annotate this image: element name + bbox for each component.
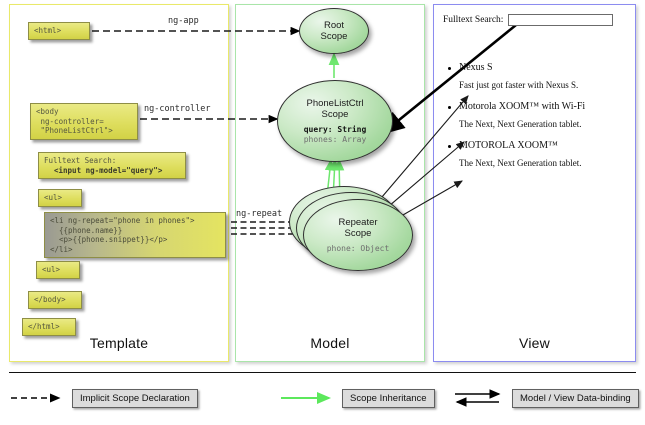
column-label-template: Template	[10, 335, 228, 351]
column-label-view: View	[434, 335, 635, 351]
search-box-label: Fulltext Search:	[44, 156, 116, 165]
diagram-canvas: Template Model View	[0, 0, 645, 425]
legend-item-model-view-data-binding: Model / View Data-binding	[449, 385, 639, 411]
scope-phonelistctrl-props: query: String phones: Array	[304, 125, 367, 145]
code-box-body-open: <body ng-controller= "PhoneListCtrl">	[30, 103, 138, 140]
phone-snippet: The Next, Next Generation tablet.	[443, 158, 629, 168]
edge-label-ng-controller: ng-controller	[144, 104, 211, 114]
code-box-search: Fulltext Search: <input ng-model="query"…	[38, 152, 186, 179]
phone-name: Motorola XOOM™ with Wi-Fi	[443, 101, 629, 112]
view-search-row: Fulltext Search:	[443, 14, 629, 26]
legend-item-implicit-scope-declaration: Implicit Scope Declaration	[9, 385, 198, 411]
column-model: Model	[235, 4, 425, 362]
legend-divider	[9, 372, 636, 373]
scope-root: Root Scope	[299, 8, 369, 54]
fulltext-search-input[interactable]	[508, 14, 613, 26]
scope-phonelistctrl-line1: PhoneListCtrl	[306, 98, 363, 109]
edge-label-ng-app: ng-app	[168, 16, 199, 26]
legend-label-model-view-data-binding: Model / View Data-binding	[512, 389, 639, 408]
search-box-code: <input ng-model="query">	[44, 166, 162, 175]
code-box-ul-close: <ul>	[36, 261, 80, 279]
view-phone-list: Nexus S Fast just got faster with Nexus …	[443, 62, 629, 168]
legend-item-scope-inheritance: Scope Inheritance	[279, 385, 435, 411]
list-item: Nexus S Fast just got faster with Nexus …	[443, 62, 629, 90]
view-search-label: Fulltext Search:	[443, 15, 503, 25]
legend-label-implicit-scope-declaration: Implicit Scope Declaration	[72, 389, 198, 408]
scope-prop-query: query: String	[304, 125, 367, 135]
scope-repeater-props: phone: Object	[327, 244, 390, 254]
list-item: Motorola XOOM™ with Wi-Fi The Next, Next…	[443, 101, 629, 129]
code-box-html-close: </html>	[22, 318, 76, 336]
legend-label-scope-inheritance: Scope Inheritance	[342, 389, 435, 408]
code-box-html-open: <html>	[28, 22, 90, 40]
scope-root-line1: Root	[324, 20, 344, 31]
scope-root-line2: Scope	[321, 31, 348, 42]
code-box-ul-open: <ul>	[38, 189, 82, 207]
scope-phonelistctrl: PhoneListCtrl Scope query: String phones…	[277, 80, 393, 162]
legend: Implicit Scope Declaration Scope Inherit…	[9, 385, 636, 411]
column-label-model: Model	[236, 335, 424, 351]
code-box-li-repeat: <li ng-repeat="phone in phones"> {{phone…	[44, 212, 226, 258]
scope-repeater: Repeater Scope phone: Object	[303, 199, 413, 271]
phone-name: MOTOROLA XOOM™	[443, 140, 629, 151]
phone-snippet: Fast just got faster with Nexus S.	[443, 80, 629, 90]
scope-prop-phone: phone: Object	[327, 244, 390, 254]
scope-repeater-line2: Scope	[345, 228, 372, 239]
scope-phonelistctrl-line2: Scope	[322, 109, 349, 120]
edge-label-ng-repeat: ng-repeat	[236, 209, 282, 219]
code-box-body-close: </body>	[28, 291, 82, 309]
green-arrow-icon	[279, 387, 337, 409]
phone-snippet: The Next, Next Generation tablet.	[443, 119, 629, 129]
scope-prop-phones: phones: Array	[304, 135, 367, 145]
dashed-arrow-icon	[9, 387, 67, 409]
double-arrow-icon	[449, 387, 507, 409]
scope-repeater-line1: Repeater	[338, 217, 377, 228]
view-content: Fulltext Search: Nexus S Fast just got f…	[443, 14, 629, 179]
phone-name: Nexus S	[443, 62, 629, 73]
list-item: MOTOROLA XOOM™ The Next, Next Generation…	[443, 140, 629, 168]
